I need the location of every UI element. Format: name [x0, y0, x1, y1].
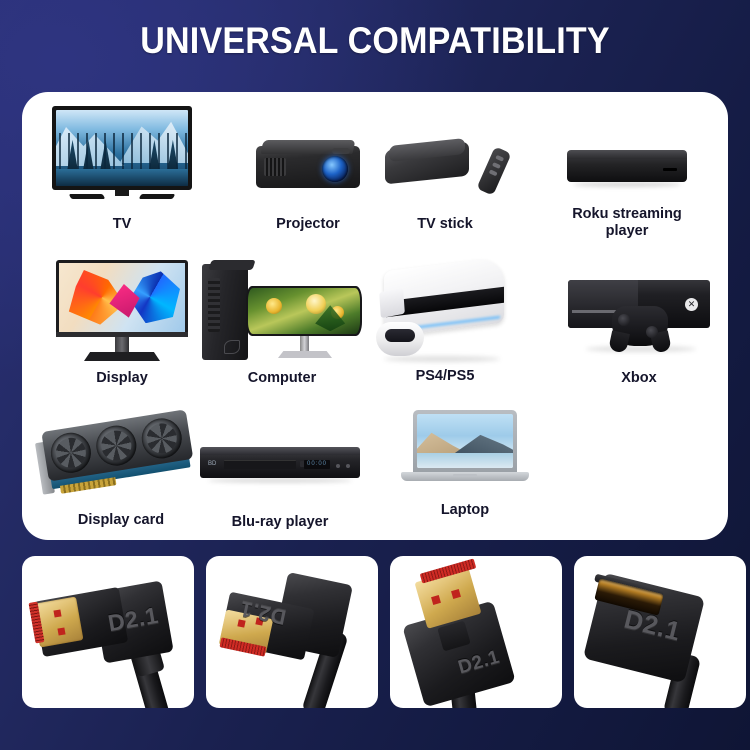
connector-pin — [255, 617, 263, 625]
device-item-bluray[interactable]: BD 00:00 Blu-ray player — [200, 410, 360, 531]
television-icon — [52, 106, 192, 206]
device-label: TV stick — [385, 216, 505, 233]
page-root: UNIVERSAL COMPATIBILITY TV — [0, 0, 750, 750]
device-item-playstation[interactable]: PS4/PS5 — [370, 260, 520, 385]
bluray-player-icon: BD 00:00 — [200, 442, 360, 490]
device-item-projector[interactable]: Projector — [252, 106, 364, 233]
device-label: Xbox — [564, 370, 714, 387]
connector-pin — [53, 609, 61, 617]
device-label: Blu-ray player — [200, 514, 360, 531]
device-item-computer[interactable]: Computer — [202, 260, 362, 387]
device-label: Computer — [202, 370, 362, 387]
device-item-laptop[interactable]: Laptop — [401, 410, 529, 519]
bluray-display: 00:00 — [304, 460, 330, 469]
device-item-roku[interactable]: Roku streaming player — [557, 106, 697, 240]
graphics-card-icon — [40, 403, 201, 509]
product-photo-strip: D2.1 D2.1 D2.1 D2.1 — [0, 556, 750, 724]
device-item-display-card[interactable]: Display card — [46, 410, 196, 529]
page-title: UNIVERSAL COMPATIBILITY — [30, 20, 720, 62]
device-label: TV — [52, 216, 192, 233]
connector-pin — [57, 627, 65, 635]
product-photo-female-socket[interactable]: D2.1 — [574, 556, 746, 708]
product-photo-right-angle-plug-reversed[interactable]: D2.1 — [206, 556, 378, 708]
xbox-console-icon — [564, 272, 714, 364]
device-label: Display card — [46, 512, 196, 529]
roku-streaming-player-icon — [567, 144, 687, 192]
device-item-display[interactable]: Display — [56, 260, 188, 387]
product-photo-straight-plug[interactable]: D2.1 — [390, 556, 562, 708]
product-photo-right-angle-plug[interactable]: D2.1 — [22, 556, 194, 708]
device-item-xbox[interactable]: Xbox — [564, 260, 714, 387]
device-label: Projector — [252, 216, 364, 233]
monitor-icon — [56, 260, 188, 364]
tv-stick-icon — [385, 132, 505, 198]
compatibility-card: TV Projector TV stick — [22, 92, 728, 540]
laptop-icon — [401, 410, 529, 496]
device-label: PS4/PS5 — [370, 368, 520, 385]
device-label: Display — [56, 370, 188, 387]
device-item-tv[interactable]: TV — [52, 106, 192, 233]
device-item-tv-stick[interactable]: TV stick — [385, 106, 505, 233]
connector-pin — [237, 619, 245, 627]
projector-icon — [252, 130, 364, 202]
playstation-console-icon — [370, 264, 520, 364]
desktop-computer-icon — [202, 260, 362, 366]
device-label: Roku streaming player — [557, 206, 697, 240]
device-label: Laptop — [401, 502, 529, 519]
